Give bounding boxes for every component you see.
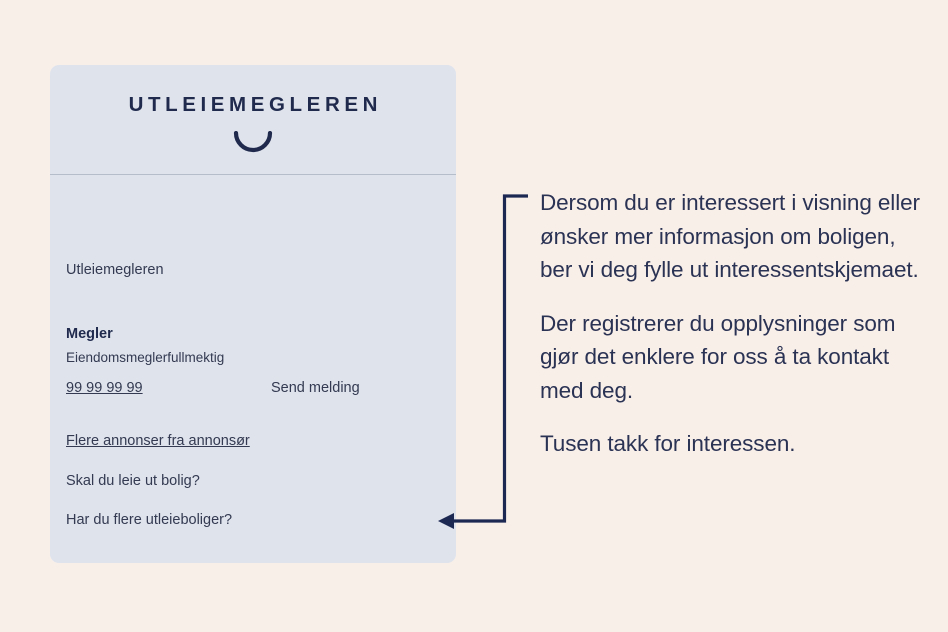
card-body: Utleiemegleren Megler Eiendomsmeglerfull… (50, 175, 456, 563)
utleiemegleren-wordmark: UTLEIEMEGLEREN (50, 93, 456, 117)
annotation-text: Dersom du er interessert i visning eller… (540, 186, 920, 461)
annotation-paragraph-2: Der registrerer du opplysninger som gjør… (540, 307, 920, 408)
multiple-rentals-link[interactable]: Har du flere utleieboliger? (66, 512, 232, 528)
company-name: Utleiemegleren (66, 262, 164, 278)
annotation-paragraph-1: Dersom du er interessert i visning eller… (540, 186, 920, 287)
broker-contact-card: UTLEIEMEGLEREN Utleiemegleren Megler Eie… (50, 65, 456, 563)
broker-title: Eiendomsmeglerfullmektig (66, 350, 224, 365)
more-ads-from-advertiser-link[interactable]: Flere annonser fra annonsør (66, 433, 250, 449)
smile-arc-icon (50, 131, 456, 155)
rent-out-property-link[interactable]: Skal du leie ut bolig? (66, 473, 200, 489)
broker-name: Megler (66, 326, 113, 342)
annotation-paragraph-3: Tusen takk for interessen. (540, 427, 920, 461)
broker-phone-link[interactable]: 99 99 99 99 (66, 380, 143, 396)
screenshot-stage: UTLEIEMEGLEREN Utleiemegleren Megler Eie… (0, 0, 948, 632)
send-message-link[interactable]: Send melding (271, 380, 360, 396)
card-header: UTLEIEMEGLEREN (50, 65, 456, 175)
